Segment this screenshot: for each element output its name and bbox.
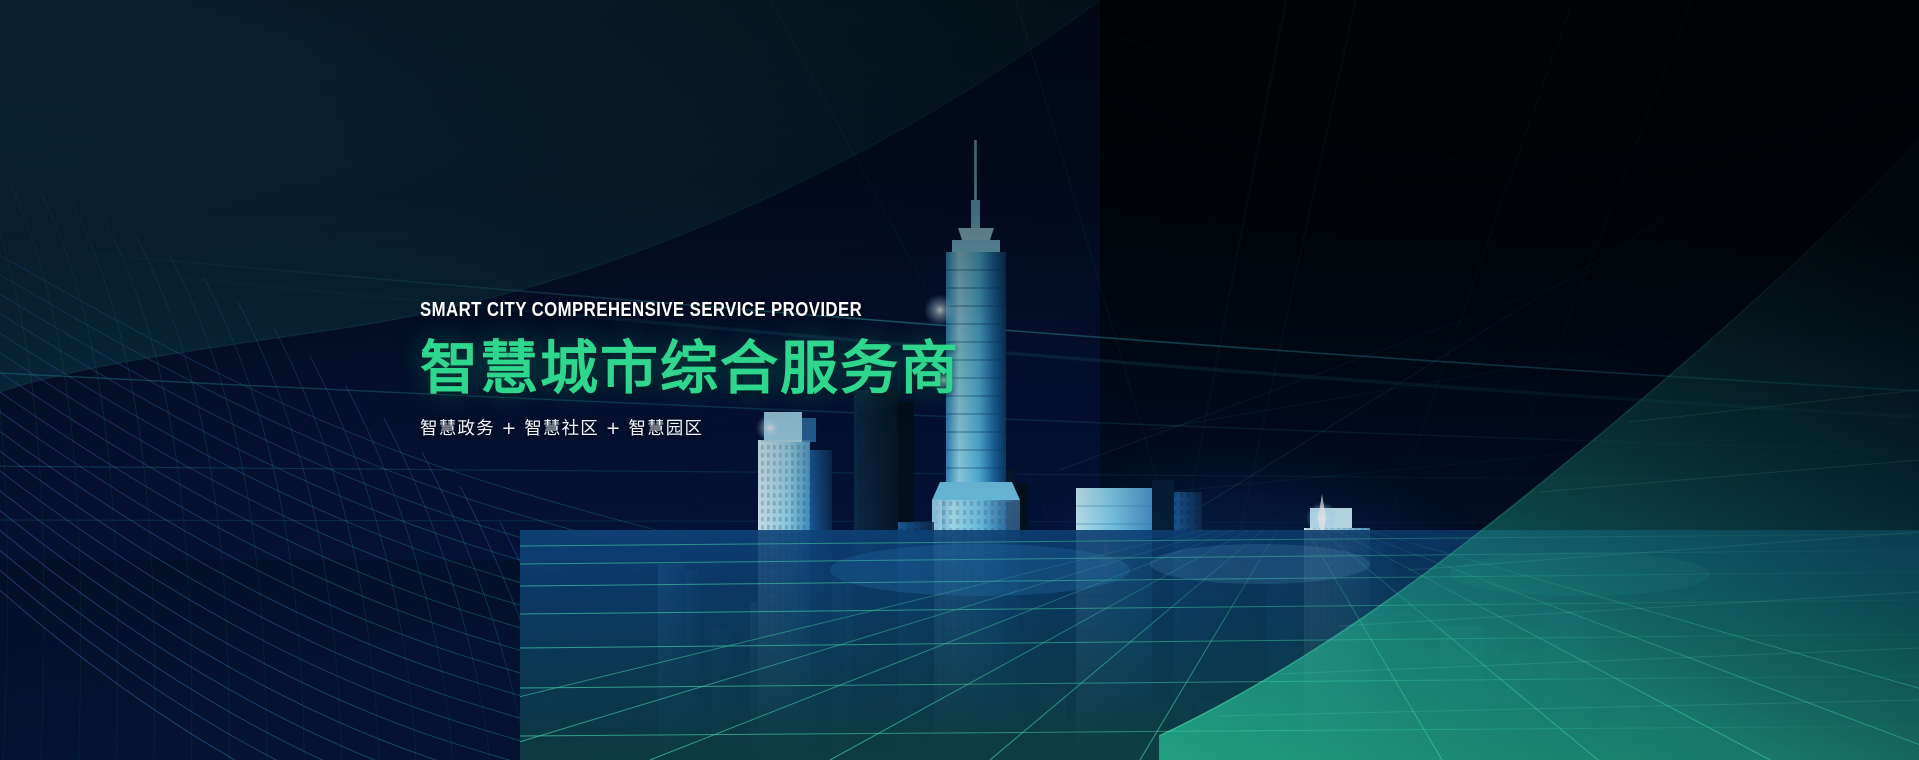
- hero-eyebrow-english: SMART CITY COMPREHENSIVE SERVICE PROVIDE…: [420, 300, 1010, 321]
- hero-subtitle-chinese: 智慧政务 + 智慧社区 + 智慧园区: [420, 415, 1140, 440]
- hero-text-block: SMART CITY COMPREHENSIVE SERVICE PROVIDE…: [420, 300, 1140, 440]
- hero-headline-chinese: 智慧城市综合服务商: [420, 338, 1140, 399]
- smart-city-hero-banner: SMART CITY COMPREHENSIVE SERVICE PROVIDE…: [0, 0, 1919, 760]
